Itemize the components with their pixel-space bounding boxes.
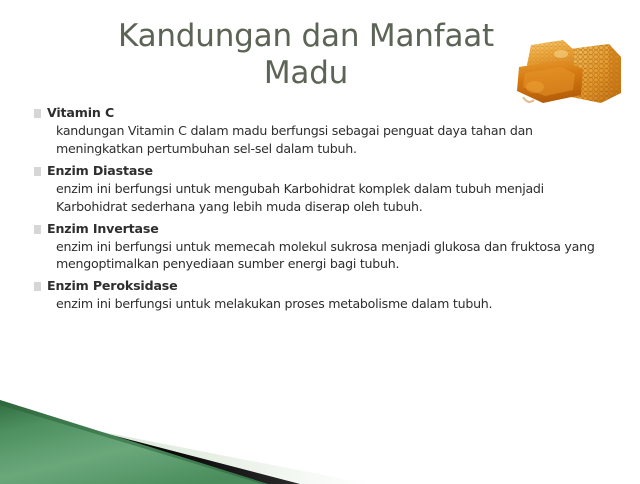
bullet-square-icon bbox=[34, 225, 41, 234]
topic-body: enzim ini berfungsi untuk mengubah Karbo… bbox=[34, 180, 612, 216]
bullet-square-icon bbox=[34, 167, 41, 176]
bullet-square-icon bbox=[34, 109, 41, 118]
bottom-decoration bbox=[0, 384, 640, 484]
topic-heading-row: Enzim Peroksidase bbox=[34, 277, 614, 294]
slide-canvas: Kandungan dan Manfaat Madu bbox=[0, 0, 640, 484]
topic-title: Enzim Invertase bbox=[47, 220, 159, 237]
topic-body: enzim ini berfungsi untuk melakukan pros… bbox=[34, 295, 612, 313]
topic-body: kandungan Vitamin C dalam madu berfungsi… bbox=[34, 122, 612, 158]
list-item: Vitamin C kandungan Vitamin C dalam madu… bbox=[34, 104, 614, 158]
honeycomb-image bbox=[505, 27, 631, 109]
topic-title: Enzim Diastase bbox=[47, 162, 153, 179]
content-list: Vitamin C kandungan Vitamin C dalam madu… bbox=[34, 104, 614, 317]
topic-heading-row: Enzim Invertase bbox=[34, 220, 614, 237]
page-title: Kandungan dan Manfaat Madu bbox=[96, 18, 516, 91]
topic-heading-row: Vitamin C bbox=[34, 104, 614, 121]
list-item: Enzim Peroksidase enzim ini berfungsi un… bbox=[34, 277, 614, 313]
bullet-square-icon bbox=[34, 282, 41, 291]
list-item: Enzim Diastase enzim ini berfungsi untuk… bbox=[34, 162, 614, 216]
list-item: Enzim Invertase enzim ini berfungsi untu… bbox=[34, 220, 614, 274]
title-block: Kandungan dan Manfaat Madu bbox=[96, 18, 516, 91]
topic-title: Enzim Peroksidase bbox=[47, 277, 178, 294]
topic-body: enzim ini berfungsi untuk memecah moleku… bbox=[34, 238, 612, 274]
topic-title: Vitamin C bbox=[47, 104, 114, 121]
topic-heading-row: Enzim Diastase bbox=[34, 162, 614, 179]
